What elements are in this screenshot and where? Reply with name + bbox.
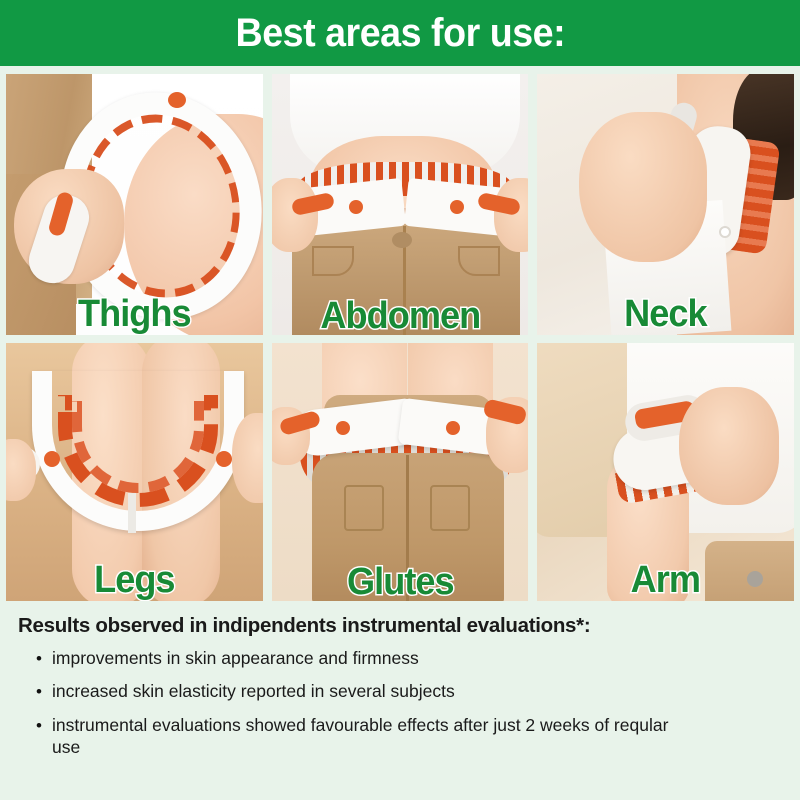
list-item: • instrumental evaluations showed favour… [36, 715, 782, 759]
infographic-page: Best areas for use: Thighs [0, 0, 800, 800]
results-section: Results observed in indipendents instrum… [0, 601, 800, 759]
trouser-button [392, 232, 412, 248]
grid-cell-legs[interactable]: Legs [6, 343, 263, 601]
hand-shape [679, 387, 779, 505]
shorts-pocket-right [430, 485, 470, 531]
orange-button-right [216, 451, 232, 467]
massager-hinge [128, 493, 136, 533]
orange-button-left [349, 200, 363, 214]
cell-label-thighs: Thighs [12, 295, 256, 333]
orange-button [168, 92, 186, 108]
trouser-pocket-left [312, 246, 354, 276]
header-banner: Best areas for use: [0, 0, 800, 66]
bullet-dot-icon: • [36, 715, 52, 736]
grid-cell-neck[interactable]: Neck [537, 74, 794, 335]
cell-label-legs: Legs [12, 561, 256, 599]
cell-label-arm: Arm [544, 561, 788, 599]
use-areas-grid: Thighs Abdo [0, 66, 800, 601]
bullet-dot-icon: • [36, 648, 52, 669]
cell-label-glutes: Glutes [278, 563, 522, 601]
bullet-dot-icon: • [36, 681, 52, 702]
list-item: • improvements in skin appearance and fi… [36, 648, 782, 670]
orange-button-left [44, 451, 60, 467]
list-item-text: instrumental evaluations showed favourab… [52, 715, 692, 759]
results-bullet-list: • improvements in skin appearance and fi… [18, 648, 782, 760]
list-item-text: improvements in skin appearance and firm… [52, 648, 692, 670]
grid-cell-abdomen[interactable]: Abdomen [272, 74, 529, 335]
list-item: • increased skin elasticity reported in … [36, 681, 782, 703]
trouser-pocket-right [458, 246, 500, 276]
cell-label-abdomen: Abdomen [278, 297, 522, 335]
orange-button-right [450, 200, 464, 214]
list-item-text: increased skin elasticity reported in se… [52, 681, 692, 703]
hand-left-shape [272, 178, 318, 252]
grid-cell-arm[interactable]: Arm [537, 343, 794, 601]
orange-button-left [336, 421, 350, 435]
cell-label-neck: Neck [544, 295, 788, 333]
grid-cell-glutes[interactable]: Glutes [272, 343, 529, 601]
hand-right-shape [232, 413, 263, 503]
results-heading: Results observed in indipendents instrum… [18, 615, 782, 638]
shorts-pocket-left [344, 485, 384, 531]
page-title: Best areas for use: [235, 13, 565, 53]
grid-cell-thighs[interactable]: Thighs [6, 74, 263, 335]
orange-button-right [446, 421, 460, 435]
arm-hand-shape [579, 112, 707, 262]
